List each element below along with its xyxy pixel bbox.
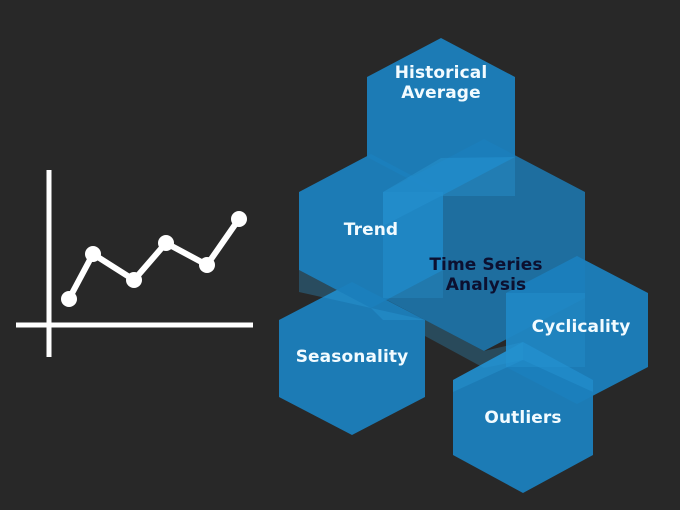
data-point-marker <box>158 235 174 251</box>
data-point-marker <box>85 246 101 262</box>
hexagon-cluster-svg-main <box>270 0 680 510</box>
overlap-highlight <box>383 192 443 298</box>
line-chart-illustration <box>0 0 280 510</box>
data-point-marker <box>126 272 142 288</box>
data-point-marker <box>61 291 77 307</box>
data-point-marker <box>199 257 215 273</box>
slide-canvas: Historical Average Trend Seasonality Cyc… <box>0 0 680 510</box>
line-chart-svg <box>0 0 280 510</box>
hexagon-cluster-diagram: Historical Average Trend Seasonality Cyc… <box>270 0 680 510</box>
data-point-marker <box>231 211 247 227</box>
